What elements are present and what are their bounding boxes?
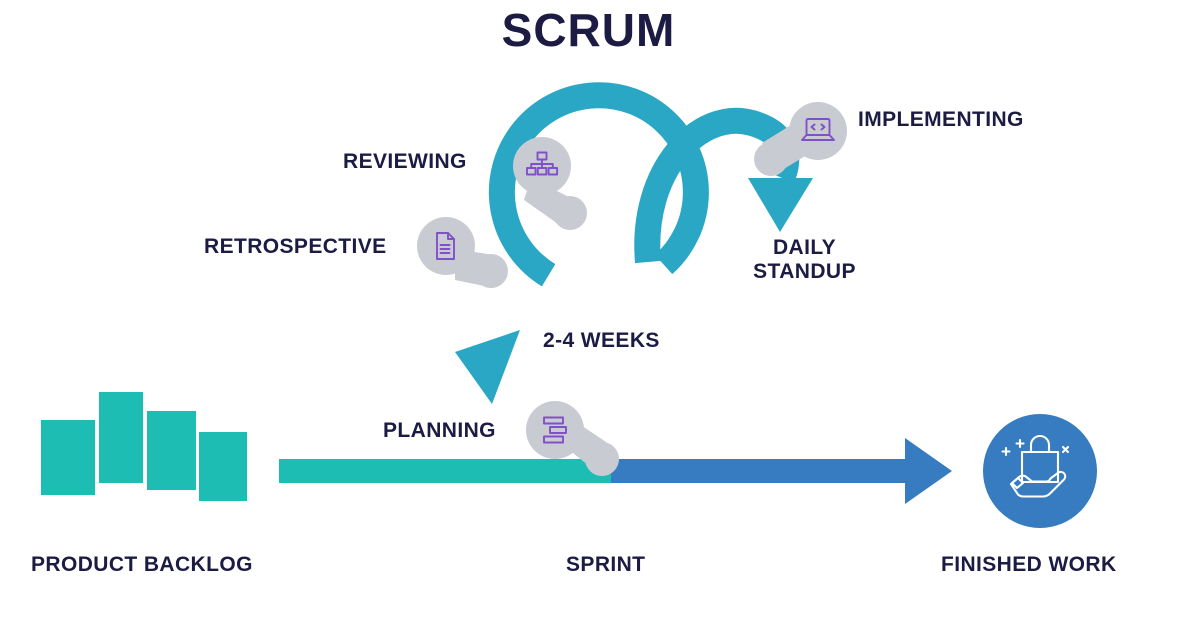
finished-work-label: FINISHED WORK [941,553,1117,577]
product-backlog-bars [41,392,247,501]
badge-circle [789,102,847,160]
backlog-bar-2 [99,392,143,483]
badge-circle [526,401,584,459]
badge-reviewing[interactable] [513,137,587,230]
flow-arrow-blue-segment [611,438,952,504]
cycle-arrowhead-planning [455,330,520,404]
stage-label-implementing: IMPLEMENTING [858,108,1024,132]
badge-circle [417,217,475,275]
stage-label-retrospective: RETROSPECTIVE [204,235,387,259]
stage-label-planning: PLANNING [383,419,496,443]
stage-label-daily-standup: DAILY STANDUP [748,236,861,283]
backlog-bar-1 [41,420,95,495]
page-title: SCRUM [0,5,1177,57]
cycle-arrowhead-standup [748,178,813,232]
finished-work-badge[interactable] [983,414,1097,528]
product-backlog-label: PRODUCT BACKLOG [31,553,253,577]
backlog-bar-3 [147,411,196,490]
badge-retrospective[interactable] [417,217,508,288]
backlog-bar-4 [199,432,247,501]
scrum-diagram-graphics [0,0,1177,627]
sprint-duration-label: 2-4 WEEKS [543,329,660,353]
scrum-diagram-canvas: SCRUM REVIEWING RETROSPECTIVE PLANNING I… [0,0,1177,627]
finished-work-circle [983,414,1097,528]
stage-label-reviewing: REVIEWING [343,150,467,174]
sprint-label: SPRINT [566,553,645,577]
flow-arrow-teal-segment [279,459,611,483]
